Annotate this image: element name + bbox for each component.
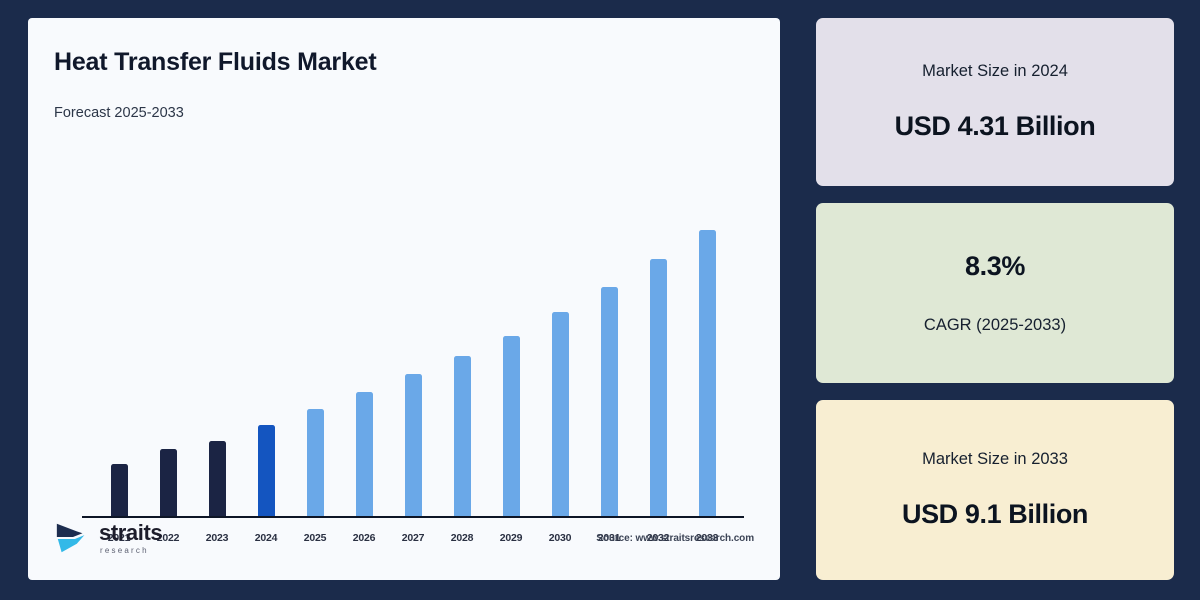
bar-slot — [688, 139, 726, 516]
bar-2021 — [111, 464, 128, 516]
bar-slot — [345, 139, 383, 516]
card-label: Market Size in 2024 — [922, 62, 1068, 81]
card-value: USD 9.1 Billion — [902, 499, 1088, 530]
bar-2033 — [699, 230, 716, 516]
logo-name: straits — [99, 522, 162, 544]
stat-cards: Market Size in 2024 USD 4.31 Billion 8.3… — [816, 18, 1176, 580]
bar-slot — [100, 139, 138, 516]
bar-slot — [590, 139, 628, 516]
page-title: Heat Transfer Fluids Market — [54, 48, 754, 77]
bar-2029 — [503, 336, 520, 516]
bar-2022 — [160, 449, 177, 516]
bar-chart: 2021202220232024202520262027202820292030… — [54, 139, 754, 564]
card-value: 8.3% — [965, 251, 1025, 282]
straits-logo-mark-icon — [54, 518, 92, 558]
chart-panel: Heat Transfer Fluids Market Forecast 202… — [28, 18, 780, 580]
bar-slot — [394, 139, 432, 516]
source-citation: Source: www.straitsresearch.com — [596, 533, 754, 544]
bar-slot — [492, 139, 530, 516]
bar-2030 — [552, 312, 569, 516]
stat-card-cagr: 8.3% CAGR (2025-2033) — [816, 203, 1174, 383]
card-label: CAGR (2025-2033) — [924, 316, 1066, 335]
logo-tagline: research — [100, 547, 162, 555]
bar-2023 — [209, 441, 226, 516]
bar-2025 — [307, 409, 324, 516]
panel-footer: straits research Source: www.straitsrese… — [54, 518, 754, 558]
infographic-root: Heat Transfer Fluids Market Forecast 202… — [0, 0, 1200, 600]
bar-2026 — [356, 392, 373, 516]
card-value: USD 4.31 Billion — [895, 111, 1096, 142]
stat-card-market-size-2033: Market Size in 2033 USD 9.1 Billion — [816, 400, 1174, 580]
logo-wordmark: straits research — [99, 522, 162, 555]
bar-slot — [443, 139, 481, 516]
bar-group — [82, 139, 744, 516]
page-subtitle: Forecast 2025-2033 — [54, 105, 754, 121]
bar-slot — [198, 139, 236, 516]
straits-research-logo: straits research — [54, 518, 162, 558]
chart-plot-area — [82, 139, 744, 518]
stat-card-market-size-2024: Market Size in 2024 USD 4.31 Billion — [816, 18, 1174, 186]
bar-2024 — [258, 425, 275, 516]
bar-slot — [247, 139, 285, 516]
bar-2027 — [405, 374, 422, 516]
bar-slot — [149, 139, 187, 516]
bar-2032 — [650, 259, 667, 516]
bar-2028 — [454, 356, 471, 516]
bar-2031 — [601, 287, 618, 516]
card-label: Market Size in 2033 — [922, 450, 1068, 469]
bar-slot — [296, 139, 334, 516]
bar-slot — [639, 139, 677, 516]
bar-slot — [541, 139, 579, 516]
